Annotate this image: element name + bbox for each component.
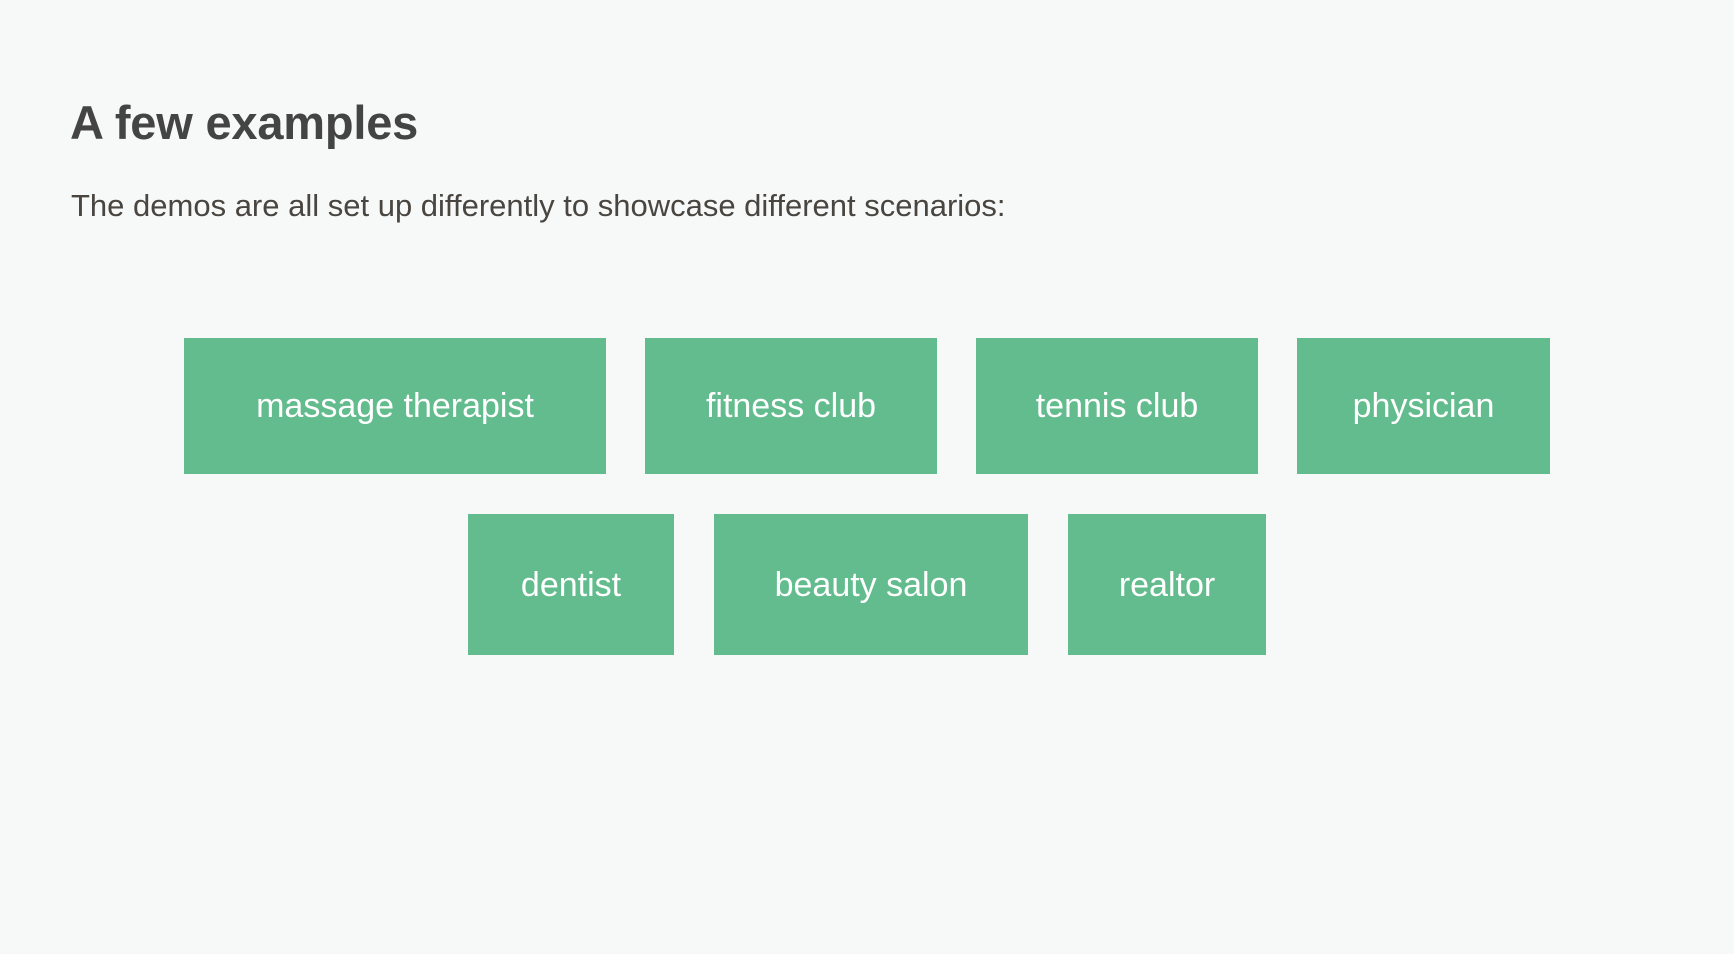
example-tile-physician[interactable]: physician [1297, 338, 1550, 474]
example-tile-grid: massage therapist fitness club tennis cl… [0, 338, 1734, 655]
example-tile-tennis-club[interactable]: tennis club [976, 338, 1258, 474]
page-root: A few examples The demos are all set up … [0, 0, 1734, 954]
example-tile-massage-therapist[interactable]: massage therapist [184, 338, 606, 474]
example-tile-dentist[interactable]: dentist [468, 514, 674, 655]
example-tile-row-2: dentist beauty salon realtor [0, 514, 1734, 655]
example-tile-beauty-salon[interactable]: beauty salon [714, 514, 1028, 655]
page-subtitle: The demos are all set up differently to … [71, 186, 1006, 226]
example-tile-row-1: massage therapist fitness club tennis cl… [0, 338, 1734, 474]
page-title: A few examples [70, 96, 418, 150]
example-tile-realtor[interactable]: realtor [1068, 514, 1266, 655]
example-tile-fitness-club[interactable]: fitness club [645, 338, 937, 474]
